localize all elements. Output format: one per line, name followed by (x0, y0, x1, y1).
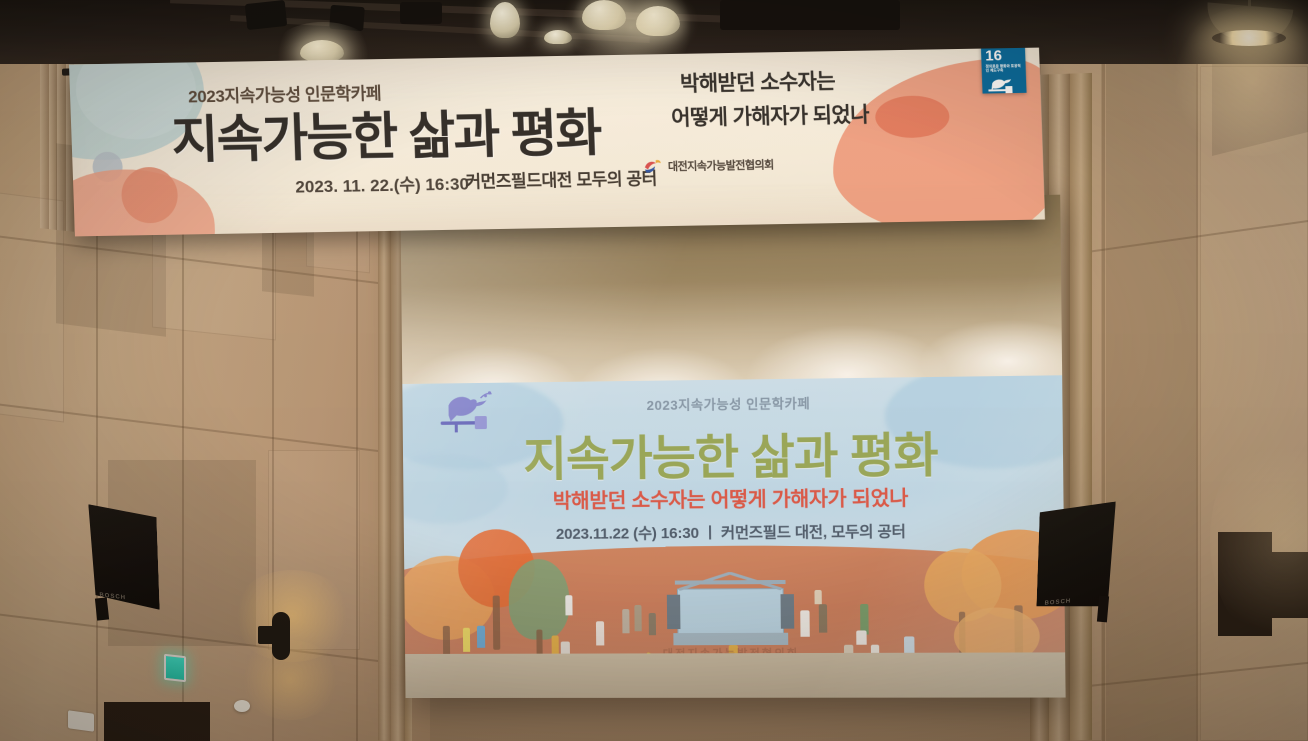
figure (856, 630, 867, 644)
banner-venue: 커먼즈필드대전 모두의 공터 (465, 164, 657, 192)
panel-seam (96, 180, 98, 741)
sconce-lower-glow (240, 640, 340, 720)
stage-light-housing (720, 0, 900, 30)
emergency-exit-sign (164, 654, 186, 682)
figure (649, 613, 656, 635)
slide-subtitle: 박해받던 소수자는 어떻게 가해자가 되었나 (403, 480, 1063, 515)
banner-subtitle-line1: 박해받던 소수자는 (679, 65, 835, 98)
sconce-bracket (258, 626, 276, 644)
organizer-logo: 대전지속가능발전협의회 (643, 156, 774, 174)
taegeuk-swoosh-icon (643, 158, 664, 174)
figure (477, 626, 485, 648)
stage-light-housing (245, 0, 287, 30)
projection-screen: 2023지속가능성 인문학카페 지속가능한 삶과 평화 박해받던 소수자는 어떻… (400, 195, 1065, 698)
spotlight (490, 2, 520, 38)
screen-lower-edge (400, 652, 1065, 698)
doorway-opening (104, 702, 210, 741)
outdoor-stage (675, 572, 786, 647)
figure (634, 605, 641, 631)
banner-subtitle-line2: 어떻게 가해자가 되었나 (671, 99, 870, 132)
smoke-detector (234, 700, 250, 712)
speaker-mount-left (95, 597, 109, 620)
slide-content: 2023지속가능성 인문학카페 지속가능한 삶과 평화 박해받던 소수자는 어떻… (402, 375, 1065, 698)
speaker-brand: BOSCH (1044, 598, 1071, 606)
figure (596, 621, 604, 645)
banner-date: 2023. 11. 22.(수) 16:30 (295, 170, 469, 198)
wall-panel (0, 191, 64, 422)
event-banner: 2023지속가능성 인문학카페 지속가능한 삶과 평화 박해받던 소수자는 어떻… (69, 48, 1045, 237)
organizer-name: 대전지속가능발전협의회 (668, 156, 774, 174)
banner-title: 지속가능한 삶과 평화 (170, 91, 601, 172)
slide-title: 지속가능한 삶과 평화 (403, 414, 1064, 491)
panel-seam (1102, 0, 1105, 741)
wall-speaker-left: BOSCH (88, 504, 159, 610)
figure (565, 595, 572, 615)
figure (800, 610, 810, 636)
sdg-number: 16 (985, 48, 1022, 64)
sdg-16-badge: 16 정의로운 평화와 포용적인 제도구축 (981, 48, 1027, 94)
figure (814, 590, 821, 604)
figure (622, 609, 629, 633)
sdg-label: 정의로운 평화와 포용적인 제도구축 (986, 64, 1022, 74)
wall-outlet (68, 710, 94, 732)
sdg-dove-gavel-icon (986, 75, 1017, 96)
figure (819, 604, 828, 633)
photo-scene: 2023지속가능성 인문학카페 지속가능한 삶과 평화 박해받던 소수자는 어떻… (0, 0, 1308, 741)
stage-light-housing (400, 2, 442, 24)
panel-seam (0, 404, 430, 459)
